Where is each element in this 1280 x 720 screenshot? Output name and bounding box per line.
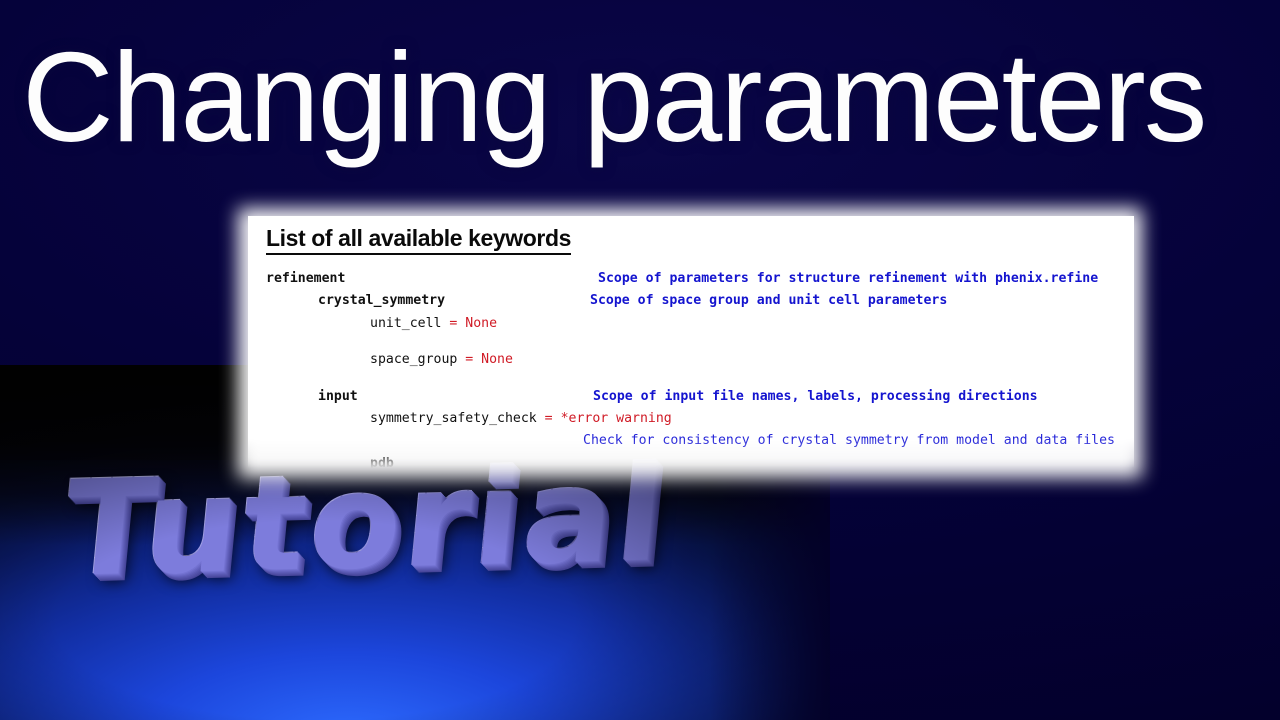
keyword-equals: = <box>441 316 465 331</box>
keyword-help-text: Check for consistency of crystal symmetr… <box>583 430 1115 452</box>
keyword-name: space_group = None <box>370 349 513 371</box>
keyword-row-spacer <box>248 335 1134 349</box>
keyword-panel-heading: List of all available keywords <box>266 225 571 255</box>
keyword-row: pdb <box>248 453 1134 468</box>
keyword-name: unit_cell = None <box>370 313 497 335</box>
keyword-row: refinementScope of parameters for struct… <box>248 268 1134 290</box>
slide-canvas: Changing parameters Tutorial Tutorial Li… <box>0 0 1280 720</box>
keyword-row: inputScope of input file names, labels, … <box>248 386 1134 408</box>
keyword-help-text: Scope of parameters for structure refine… <box>598 268 1098 290</box>
keyword-value: None <box>465 316 497 331</box>
keyword-equals: = <box>457 352 481 367</box>
keyword-value: *error warning <box>561 411 672 426</box>
keyword-name: input <box>318 386 358 408</box>
keyword-name: refinement <box>266 268 345 290</box>
tutorial-wordmark-reflection: Tutorial <box>62 593 762 703</box>
keyword-list: refinementScope of parameters for struct… <box>248 268 1134 468</box>
keyword-equals: = <box>537 411 561 426</box>
keyword-name: pdb <box>370 453 394 468</box>
keyword-row: unit_cell = None <box>248 313 1134 335</box>
keyword-row: space_group = None <box>248 349 1134 371</box>
keyword-row: symmetry_safety_check = *error warning <box>248 408 1134 430</box>
keyword-row: crystal_symmetryScope of space group and… <box>248 290 1134 312</box>
keyword-value: None <box>481 352 513 367</box>
keyword-help-text: Scope of space group and unit cell param… <box>590 290 947 312</box>
keyword-row-spacer <box>248 372 1134 386</box>
page-title: Changing parameters <box>22 34 1262 161</box>
tutorial-wordmark: Tutorial <box>58 465 758 595</box>
keyword-name: symmetry_safety_check = *error warning <box>370 408 672 430</box>
keyword-help-text: Scope of input file names, labels, proce… <box>593 386 1038 408</box>
keyword-panel: List of all available keywords refinemen… <box>248 216 1134 468</box>
keyword-name: crystal_symmetry <box>318 290 445 312</box>
keyword-row: Check for consistency of crystal symmetr… <box>248 430 1134 452</box>
